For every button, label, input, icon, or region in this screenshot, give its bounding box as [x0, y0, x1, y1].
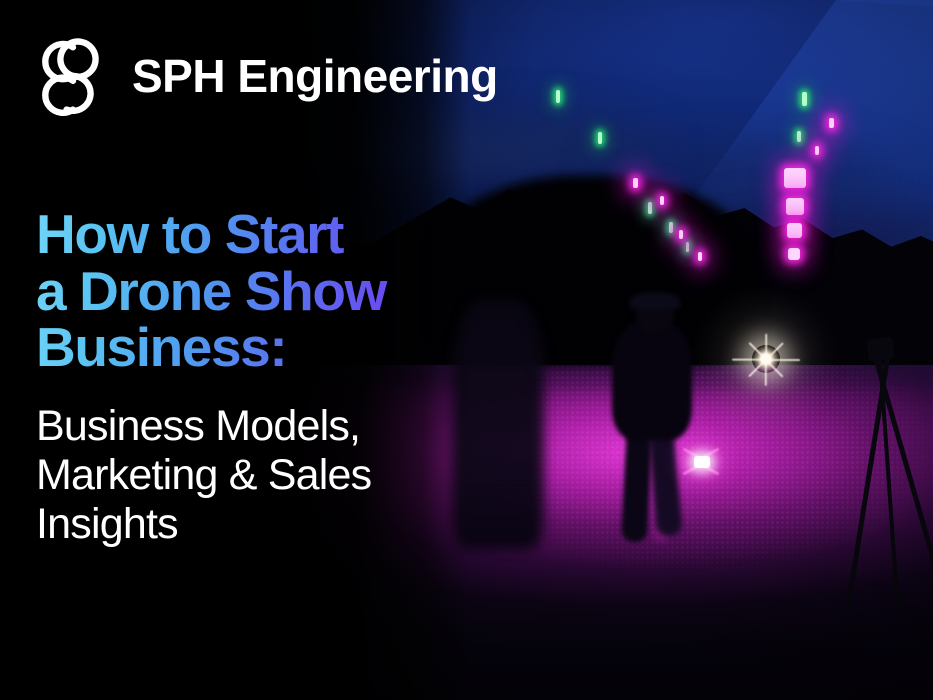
page-title: How to Start a Drone Show Business: [36, 206, 506, 376]
cover-copy: How to Start a Drone Show Business: Busi… [36, 206, 506, 549]
headline-line-3: Business: [36, 319, 506, 376]
subhead-line-3: Insights [36, 500, 506, 549]
headline-line-1: How to Start [36, 206, 506, 263]
blog-cover-banner: SPH Engineering How to Start a Drone Sho… [0, 0, 933, 700]
subhead-line-2: Marketing & Sales [36, 451, 506, 500]
page-subtitle: Business Models, Marketing & Sales Insig… [36, 402, 506, 549]
headline-line-2: a Drone Show [36, 263, 506, 320]
brand-logo[interactable]: SPH Engineering [32, 36, 498, 116]
subhead-line-1: Business Models, [36, 402, 506, 451]
brand-name: SPH Engineering [132, 53, 498, 99]
sph-interlocking-circles-logo-icon [32, 36, 114, 116]
